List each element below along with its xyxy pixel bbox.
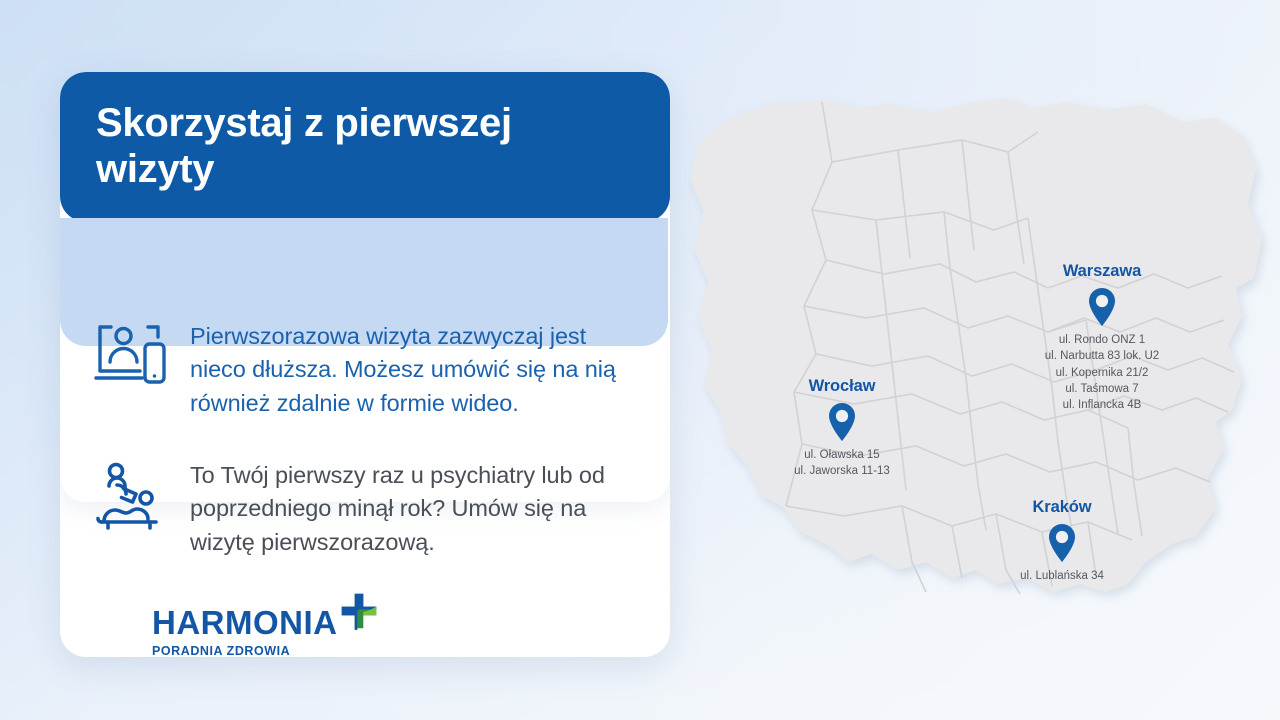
- logo-subtitle: PORADNIA ZDROWIA PSYCHICZNEGO GRUPA LUXM…: [152, 644, 378, 657]
- map-pin-icon: [752, 402, 932, 442]
- address-list-krakow: ul. Lublańska 34: [972, 568, 1152, 584]
- city-label-krakow: Kraków: [972, 498, 1152, 517]
- city-label-warszawa: Warszawa: [1002, 262, 1202, 281]
- info-card: Skorzystaj z pierwszej wizyty Pierwszora…: [60, 72, 670, 657]
- address-item: ul. Narbutta 83 lok. U2: [1002, 348, 1202, 364]
- map-marker-wroclaw[interactable]: Wrocław ul. Oławska 15 ul. Jaworska 11-1…: [752, 377, 932, 480]
- address-item: ul. Lublańska 34: [972, 568, 1152, 584]
- address-item: ul. Kopernika 21/2: [1002, 365, 1202, 381]
- address-item: ul. Inflancka 4B: [1002, 397, 1202, 413]
- map-pin-icon: [972, 523, 1152, 563]
- address-list-wroclaw: ul. Oławska 15 ul. Jaworska 11-13: [752, 447, 932, 480]
- harmonia-logo: HARMONIA PORADNIA ZDROWIA PSYCHICZNEGO G…: [152, 606, 378, 657]
- feature-row-video: Pierwszorazowa wizyta zazwyczaj jest nie…: [60, 315, 670, 420]
- page-title: Skorzystaj z pierwszej wizyty: [60, 100, 670, 193]
- feature-text-therapy: To Twój pierwszy raz u psychiatry lub od…: [190, 455, 640, 559]
- address-item: ul. Rondo ONZ 1: [1002, 332, 1202, 348]
- logo-wordmark: HARMONIA: [152, 606, 337, 639]
- address-list-warszawa: ul. Rondo ONZ 1 ul. Narbutta 83 lok. U2 …: [1002, 332, 1202, 414]
- therapy-couch-icon: [92, 455, 168, 535]
- map-marker-warszawa[interactable]: Warszawa ul. Rondo ONZ 1 ul. Narbutta 83…: [1002, 262, 1202, 414]
- map-marker-krakow[interactable]: Kraków ul. Lublańska 34: [972, 498, 1152, 584]
- logo-subtitle-line1: PORADNIA ZDROWIA: [152, 644, 290, 657]
- feature-row-therapy: To Twój pierwszy raz u psychiatry lub od…: [60, 455, 670, 559]
- cross-icon: [340, 592, 378, 635]
- address-item: ul. Jaworska 11-13: [752, 463, 932, 479]
- city-label-wroclaw: Wrocław: [752, 377, 932, 396]
- feature-text-video: Pierwszorazowa wizyta zazwyczaj jest nie…: [190, 315, 640, 420]
- address-item: ul. Oławska 15: [752, 447, 932, 463]
- map-pin-icon: [1002, 287, 1202, 327]
- card-header: Skorzystaj z pierwszej wizyty: [60, 72, 670, 222]
- video-consultation-icon: [92, 315, 168, 395]
- address-item: ul. Taśmowa 7: [1002, 381, 1202, 397]
